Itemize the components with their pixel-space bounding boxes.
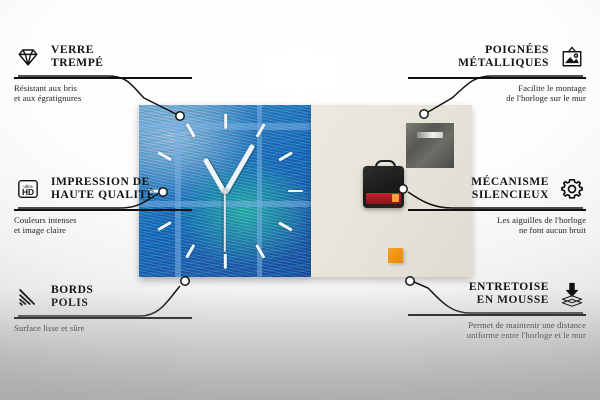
callout-title: VERRE TREMPÉ bbox=[51, 44, 104, 70]
divider bbox=[14, 77, 192, 79]
quartz-mechanism bbox=[363, 166, 404, 208]
callout-verre-trempe: VERRE TREMPÉ Résistant aux bris et aux é… bbox=[14, 40, 192, 104]
polished-edges-icon bbox=[14, 283, 42, 311]
callout-header: VERRE TREMPÉ bbox=[14, 40, 192, 74]
ultra-hd-badge-icon: ultra HD bbox=[14, 175, 42, 203]
divider bbox=[408, 77, 586, 79]
foam-spacer bbox=[388, 248, 403, 263]
callout-impression-haute-qualite: ultra HD IMPRESSION DE HAUTE QUALITÉ Cou… bbox=[14, 172, 192, 236]
callout-header: ultra HD IMPRESSION DE HAUTE QUALITÉ bbox=[14, 172, 192, 206]
callout-entretoise-en-mousse: ENTRETOISE EN MOUSSE Permet de maintenir… bbox=[408, 277, 586, 341]
callout-title: IMPRESSION DE HAUTE QUALITÉ bbox=[51, 176, 155, 202]
divider bbox=[14, 209, 192, 211]
hour-marker bbox=[278, 221, 292, 231]
callout-subtitle: Permet de maintenir une distance uniform… bbox=[408, 320, 586, 341]
minute-hand bbox=[223, 144, 255, 195]
hanger-slot bbox=[417, 132, 443, 138]
callout-header: BORDS POLIS bbox=[14, 280, 192, 314]
hour-marker bbox=[224, 113, 227, 128]
callout-header: MÉCANISME SILENCIEUX bbox=[408, 172, 586, 206]
hour-marker bbox=[185, 244, 195, 258]
callout-bords-polis: BORDS POLIS Surface lisse et sûre bbox=[14, 280, 192, 333]
hour-marker bbox=[278, 151, 292, 161]
hour-marker bbox=[288, 190, 303, 193]
callout-header: POIGNÉES MÉTALLIQUES bbox=[408, 40, 586, 74]
foam-spacer-press-icon bbox=[558, 280, 586, 308]
divider bbox=[14, 317, 192, 319]
callout-subtitle: Résistant aux bris et aux égratignures bbox=[14, 83, 192, 104]
hands-pin bbox=[223, 189, 228, 194]
callout-title: MÉCANISME SILENCIEUX bbox=[471, 176, 549, 202]
second-hand bbox=[224, 192, 226, 252]
infographic-canvas: VERRE TREMPÉ Résistant aux bris et aux é… bbox=[0, 0, 600, 400]
battery bbox=[366, 193, 401, 204]
callout-poignees-metalliques: POIGNÉES MÉTALLIQUES Facilite le montage… bbox=[408, 40, 586, 104]
hour-marker bbox=[157, 151, 171, 161]
callout-mecanisme-silencieux: MÉCANISME SILENCIEUX Les aiguilles de l'… bbox=[408, 172, 586, 236]
callout-subtitle: Couleurs intenses et image claire bbox=[14, 215, 192, 236]
svg-text:HD: HD bbox=[22, 187, 34, 197]
picture-frame-hanger-icon bbox=[558, 43, 586, 71]
callout-title: ENTRETOISE EN MOUSSE bbox=[469, 281, 549, 307]
callout-title: BORDS POLIS bbox=[51, 284, 93, 310]
divider bbox=[408, 314, 586, 316]
metal-hanger-plate bbox=[406, 123, 454, 168]
callout-subtitle: Les aiguilles de l'horloge ne font aucun… bbox=[408, 215, 586, 236]
gear-icon bbox=[558, 175, 586, 203]
hour-marker bbox=[224, 253, 227, 268]
diamond-icon bbox=[14, 43, 42, 71]
hanging-loop bbox=[375, 160, 396, 171]
callout-subtitle: Surface lisse et sûre bbox=[14, 323, 192, 334]
callout-subtitle: Facilite le montage de l'horloge sur le … bbox=[408, 83, 586, 104]
divider bbox=[408, 209, 586, 211]
callout-header: ENTRETOISE EN MOUSSE bbox=[408, 277, 586, 311]
callout-title: POIGNÉES MÉTALLIQUES bbox=[458, 44, 549, 70]
battery-terminal bbox=[392, 194, 399, 202]
